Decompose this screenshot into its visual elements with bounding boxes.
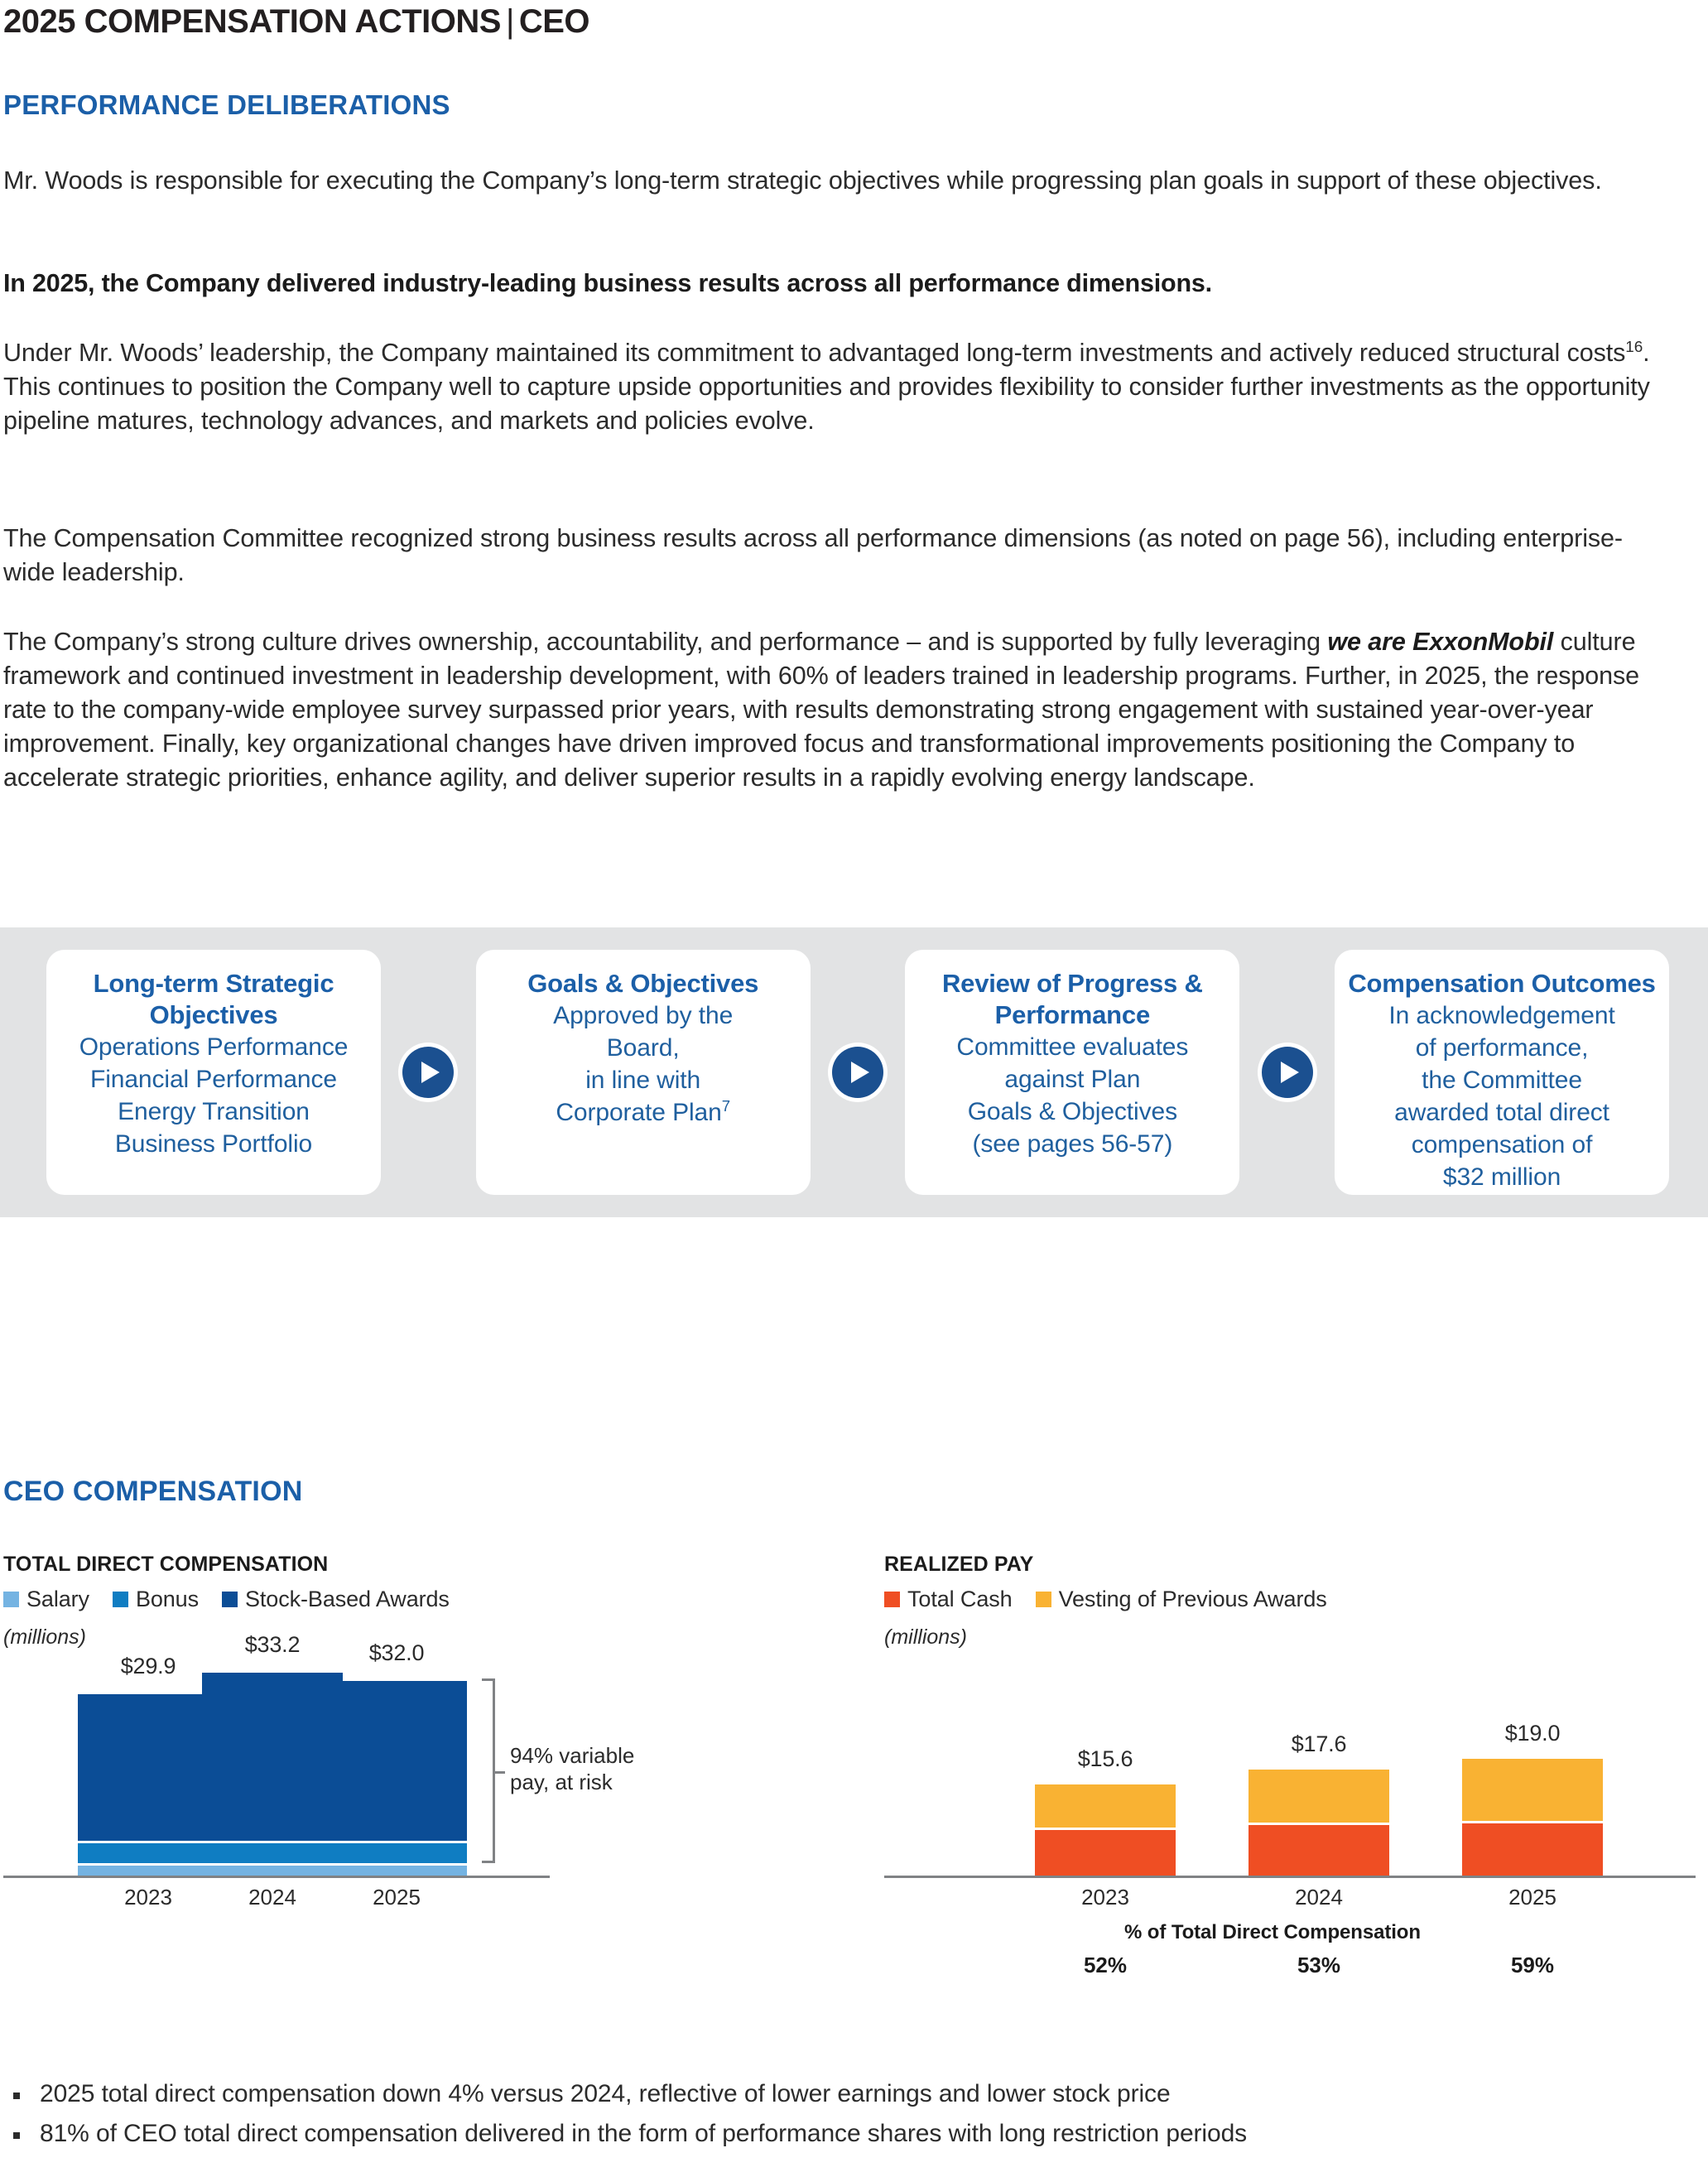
rp-footer-label: % of Total Direct Compensation xyxy=(1124,1921,1421,1944)
flow-card-4-line-3: the Committee xyxy=(1348,1064,1656,1096)
flow-card-1-line-2: Financial Performance xyxy=(60,1063,368,1096)
paragraph-results-lead: In 2025, the Company delivered industry-… xyxy=(3,267,1667,301)
rp-plot-area: $15.6 2023 $17.6 2024 $19.0 2025 % of To… xyxy=(884,1654,1696,1878)
flow-card-3-body: Committee evaluates against Plan Goals &… xyxy=(918,1031,1226,1160)
flow-card-2-line-2: Board, xyxy=(489,1032,797,1064)
tdc-seg-bonus-2023 xyxy=(78,1843,219,1866)
flow-card-4-title: Compensation Outcomes xyxy=(1348,968,1656,999)
rp-bar-2025 xyxy=(1462,1756,1603,1876)
tdc-seg-bonus-2024 xyxy=(202,1843,343,1866)
bullet-dot-icon xyxy=(13,2093,20,2099)
tdc-seg-stock-2025 xyxy=(326,1681,467,1843)
paragraph-responsibility: Mr. Woods is responsible for executing t… xyxy=(3,164,1667,198)
rp-bar-2023 xyxy=(1035,1782,1176,1876)
flow-card-review-of-progress: Review of Progress & Performance Committ… xyxy=(905,950,1239,1195)
tdc-total-label-2023: $29.9 xyxy=(78,1654,219,1679)
flow-card-1-line-3: Energy Transition xyxy=(60,1096,368,1128)
flow-card-2-title: Goals & Objectives xyxy=(489,968,797,999)
rp-legend-item-vesting: Vesting of Previous Awards xyxy=(1036,1587,1327,1612)
rp-xlabel-2023: 2023 xyxy=(1035,1885,1176,1910)
list-item: 81% of CEO total direct compensation del… xyxy=(7,2114,1696,2154)
rp-legend: Total Cash Vesting of Previous Awards xyxy=(884,1587,1696,1612)
rp-seg-total-cash-2023 xyxy=(1035,1830,1176,1876)
ceo-compensation-heading: CEO COMPENSATION xyxy=(3,1476,302,1508)
tdc-total-label-2024: $33.2 xyxy=(202,1632,343,1658)
tdc-total-label-2025: $32.0 xyxy=(326,1640,467,1666)
flow-arrow-1-wrap xyxy=(381,950,476,1195)
variable-pay-note-line-2: pay, at risk xyxy=(510,1769,684,1795)
tdc-xlabel-2024: 2024 xyxy=(202,1885,343,1910)
variable-pay-bracket-tick xyxy=(495,1771,505,1774)
play-triangle-icon xyxy=(1262,1047,1313,1098)
flow-card-2-line-3: in line with xyxy=(489,1064,797,1096)
footnote-ref-7: 7 xyxy=(722,1097,730,1115)
flow-arrow-2-wrap xyxy=(811,950,906,1195)
p5-text-a: The Company’s strong culture drives owne… xyxy=(3,628,1327,656)
flow-card-1-line-4: Business Portfolio xyxy=(60,1128,368,1160)
flow-card-4-line-2: of performance, xyxy=(1348,1032,1656,1064)
rp-seg-vesting-2024 xyxy=(1249,1770,1389,1825)
chart-total-direct-compensation: TOTAL DIRECT COMPENSATION Salary Bonus S… xyxy=(3,1553,831,1878)
flow-card-4-line-5: compensation of xyxy=(1348,1129,1656,1161)
tdc-plot-area: $29.9 2023 $33.2 2024 $32.0 202 xyxy=(3,1654,831,1878)
flow-card-4-line-4: awarded total direct xyxy=(1348,1096,1656,1129)
variable-pay-note-line-1: 94% variable xyxy=(510,1742,684,1769)
rp-legend-item-total-cash: Total Cash xyxy=(884,1587,1013,1612)
flow-card-3-line-3: Goals & Objectives xyxy=(918,1096,1226,1128)
flow-card-compensation-outcomes: Compensation Outcomes In acknowledgement… xyxy=(1335,950,1669,1195)
rp-legend-label-total-cash: Total Cash xyxy=(907,1587,1013,1612)
bullet-text-1: 2025 total direct compensation down 4% v… xyxy=(40,2080,1171,2107)
page-title-main: 2025 COMPENSATION ACTIONS xyxy=(3,3,501,40)
rp-legend-label-vesting: Vesting of Previous Awards xyxy=(1059,1587,1327,1612)
legend-swatch-total-cash xyxy=(884,1592,900,1607)
tdc-legend-label-stock: Stock-Based Awards xyxy=(245,1587,450,1612)
flow-card-1-title: Long-term Strategic Objectives xyxy=(60,968,368,1031)
rp-footer-pct-2025: 59% xyxy=(1462,1953,1603,1978)
flow-card-2-body: Approved by the Board, in line with Corp… xyxy=(489,999,797,1129)
bullet-text-2: 81% of CEO total direct compensation del… xyxy=(40,2120,1247,2147)
flow-arrow-3-wrap xyxy=(1239,950,1335,1195)
rp-xlabel-2025: 2025 xyxy=(1462,1885,1603,1910)
page-title-sub: CEO xyxy=(519,3,589,40)
summary-bullets: 2025 total direct compensation down 4% v… xyxy=(7,2074,1696,2154)
rp-units: (millions) xyxy=(884,1625,1696,1649)
tdc-legend-label-bonus: Bonus xyxy=(136,1587,199,1612)
tdc-seg-salary-2023 xyxy=(78,1866,219,1876)
variable-pay-note: 94% variable pay, at risk xyxy=(510,1742,684,1795)
variable-pay-bracket xyxy=(482,1678,495,1863)
chart-realized-pay: REALIZED PAY Total Cash Vesting of Previ… xyxy=(884,1553,1696,1878)
legend-swatch-vesting-of-previous-awards xyxy=(1036,1592,1051,1607)
rp-footer-pct-2024: 53% xyxy=(1249,1953,1389,1978)
rp-seg-vesting-2025 xyxy=(1462,1759,1603,1823)
rp-footer-pct-2023: 52% xyxy=(1035,1953,1176,1978)
tdc-xlabel-2023: 2023 xyxy=(78,1885,219,1910)
rp-chart-title: REALIZED PAY xyxy=(884,1553,1696,1577)
bullet-dot-icon xyxy=(13,2132,20,2139)
footnote-ref-16: 16 xyxy=(1625,339,1643,356)
flow-card-1-body: Operations Performance Financial Perform… xyxy=(60,1031,368,1160)
rp-seg-total-cash-2024 xyxy=(1249,1825,1389,1876)
tdc-seg-stock-2023 xyxy=(78,1694,219,1843)
tdc-bar-2025 xyxy=(326,1678,467,1876)
tdc-bar-2024 xyxy=(202,1670,343,1876)
rp-total-label-2025: $19.0 xyxy=(1462,1721,1603,1746)
page-title: 2025 COMPENSATION ACTIONS|CEO xyxy=(3,3,589,41)
tdc-legend-item-salary: Salary xyxy=(3,1587,89,1612)
tdc-xlabel-2025: 2025 xyxy=(326,1885,467,1910)
legend-swatch-stock-based-awards xyxy=(222,1592,238,1607)
rp-total-label-2023: $15.6 xyxy=(1035,1746,1176,1772)
rp-xlabel-2024: 2024 xyxy=(1249,1885,1389,1910)
tdc-seg-stock-2024 xyxy=(202,1673,343,1843)
tdc-legend-item-stock: Stock-Based Awards xyxy=(222,1587,450,1612)
p3-text-a: Under Mr. Woods’ leadership, the Company… xyxy=(3,339,1625,367)
flow-card-2-line-1: Approved by the xyxy=(489,999,797,1032)
play-triangle-icon xyxy=(832,1047,883,1098)
flow-card-4-line-1: In acknowledgement xyxy=(1348,999,1656,1032)
rp-bar-2024 xyxy=(1249,1767,1389,1876)
flow-card-2-line-4: Corporate Plan7 xyxy=(489,1096,797,1129)
tdc-legend: Salary Bonus Stock-Based Awards xyxy=(3,1587,831,1612)
flow-card-1-line-1: Operations Performance xyxy=(60,1031,368,1063)
flow-card-3-line-1: Committee evaluates xyxy=(918,1031,1226,1063)
performance-deliberations-heading: PERFORMANCE DELIBERATIONS xyxy=(3,89,450,121)
tdc-legend-item-bonus: Bonus xyxy=(113,1587,199,1612)
flow-card-2-line-4-text: Corporate Plan xyxy=(556,1099,721,1126)
rp-seg-total-cash-2025 xyxy=(1462,1823,1603,1876)
legend-swatch-bonus xyxy=(113,1592,128,1607)
tdc-bar-2023 xyxy=(78,1692,219,1876)
flow-card-long-term-strategic-objectives: Long-term Strategic Objectives Operation… xyxy=(46,950,381,1195)
flow-card-3-line-4: (see pages 56-57) xyxy=(918,1128,1226,1160)
flow-card-3-title: Review of Progress & Performance xyxy=(918,968,1226,1031)
page-title-separator: | xyxy=(501,3,519,40)
flow-card-4-body: In acknowledgement of performance, the C… xyxy=(1348,999,1656,1193)
tdc-seg-salary-2024 xyxy=(202,1866,343,1876)
flow-card-4-line-6: $32 million xyxy=(1348,1161,1656,1193)
tdc-chart-title: TOTAL DIRECT COMPENSATION xyxy=(3,1553,831,1577)
play-triangle-icon xyxy=(402,1047,454,1098)
paragraph-leadership: Under Mr. Woods’ leadership, the Company… xyxy=(3,336,1667,438)
paragraph-culture: The Company’s strong culture drives owne… xyxy=(3,625,1667,795)
tdc-seg-bonus-2025 xyxy=(326,1843,467,1866)
rp-seg-vesting-2023 xyxy=(1035,1784,1176,1830)
flow-card-goals-and-objectives: Goals & Objectives Approved by the Board… xyxy=(476,950,811,1195)
tdc-legend-label-salary: Salary xyxy=(26,1587,89,1612)
tdc-seg-salary-2025 xyxy=(326,1866,467,1876)
paragraph-committee: The Compensation Committee recognized st… xyxy=(3,522,1667,590)
rp-total-label-2024: $17.6 xyxy=(1249,1731,1389,1757)
legend-swatch-salary xyxy=(3,1592,19,1607)
list-item: 2025 total direct compensation down 4% v… xyxy=(7,2074,1696,2114)
proxy-statement-page: 2025 COMPENSATION ACTIONS|CEO PERFORMANC… xyxy=(0,0,1708,2172)
flow-card-3-line-2: against Plan xyxy=(918,1063,1226,1096)
compensation-process-flow: Long-term Strategic Objectives Operation… xyxy=(0,927,1708,1217)
we-are-exxonmobil-emphasis: we are ExxonMobil xyxy=(1327,628,1553,656)
